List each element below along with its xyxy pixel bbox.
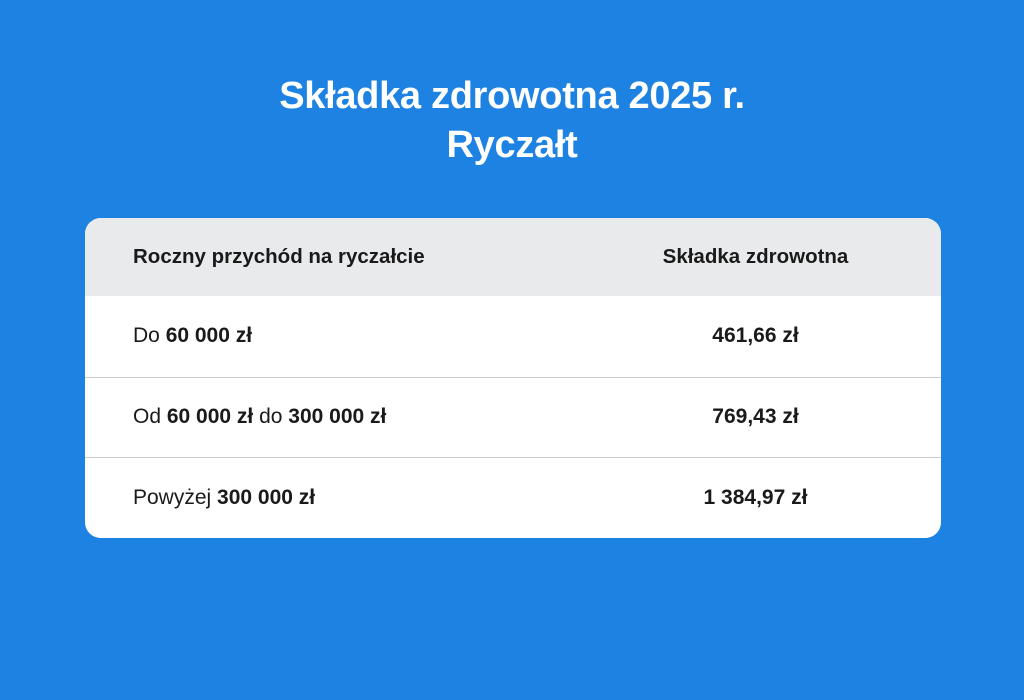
income-middle: do <box>253 405 288 428</box>
cell-income-bracket: Do 60 000 zł <box>133 323 658 349</box>
contribution-table: Roczny przychód na ryczałcie Składka zdr… <box>85 218 941 538</box>
rates-card: Roczny przychód na ryczałcie Składka zdr… <box>85 218 941 538</box>
cell-contribution-amount: 769,43 zł <box>658 404 893 430</box>
table-row: Powyżej 300 000 zł 1 384,97 zł <box>85 457 941 538</box>
income-amount-1: 60 000 zł <box>166 324 252 347</box>
cell-contribution-amount: 1 384,97 zł <box>658 485 893 511</box>
cell-contribution-amount: 461,66 zł <box>658 323 893 349</box>
title-line-1: Składka zdrowotna 2025 r. <box>0 72 1024 121</box>
table-row: Od 60 000 zł do 300 000 zł 769,43 zł <box>85 377 941 458</box>
table-header-row: Roczny przychód na ryczałcie Składka zdr… <box>85 218 941 296</box>
infographic-canvas: Składka zdrowotna 2025 r. Ryczałt Roczny… <box>0 0 1024 700</box>
title-line-2: Ryczałt <box>0 121 1024 170</box>
cell-income-bracket: Powyżej 300 000 zł <box>133 485 658 511</box>
cell-income-bracket: Od 60 000 zł do 300 000 zł <box>133 404 658 430</box>
income-amount-2: 300 000 zł <box>288 405 386 428</box>
income-amount-1: 60 000 zł <box>167 405 253 428</box>
income-prefix: Od <box>133 405 167 428</box>
table-row: Do 60 000 zł 461,66 zł <box>85 296 941 377</box>
page-title: Składka zdrowotna 2025 r. Ryczałt <box>0 72 1024 170</box>
column-header-contribution: Składka zdrowotna <box>658 244 893 270</box>
column-header-income: Roczny przychód na ryczałcie <box>133 244 658 270</box>
income-prefix: Powyżej <box>133 486 217 509</box>
footer: inFakt <box>0 570 1024 630</box>
income-prefix: Do <box>133 324 166 347</box>
income-amount-1: 300 000 zł <box>217 486 315 509</box>
